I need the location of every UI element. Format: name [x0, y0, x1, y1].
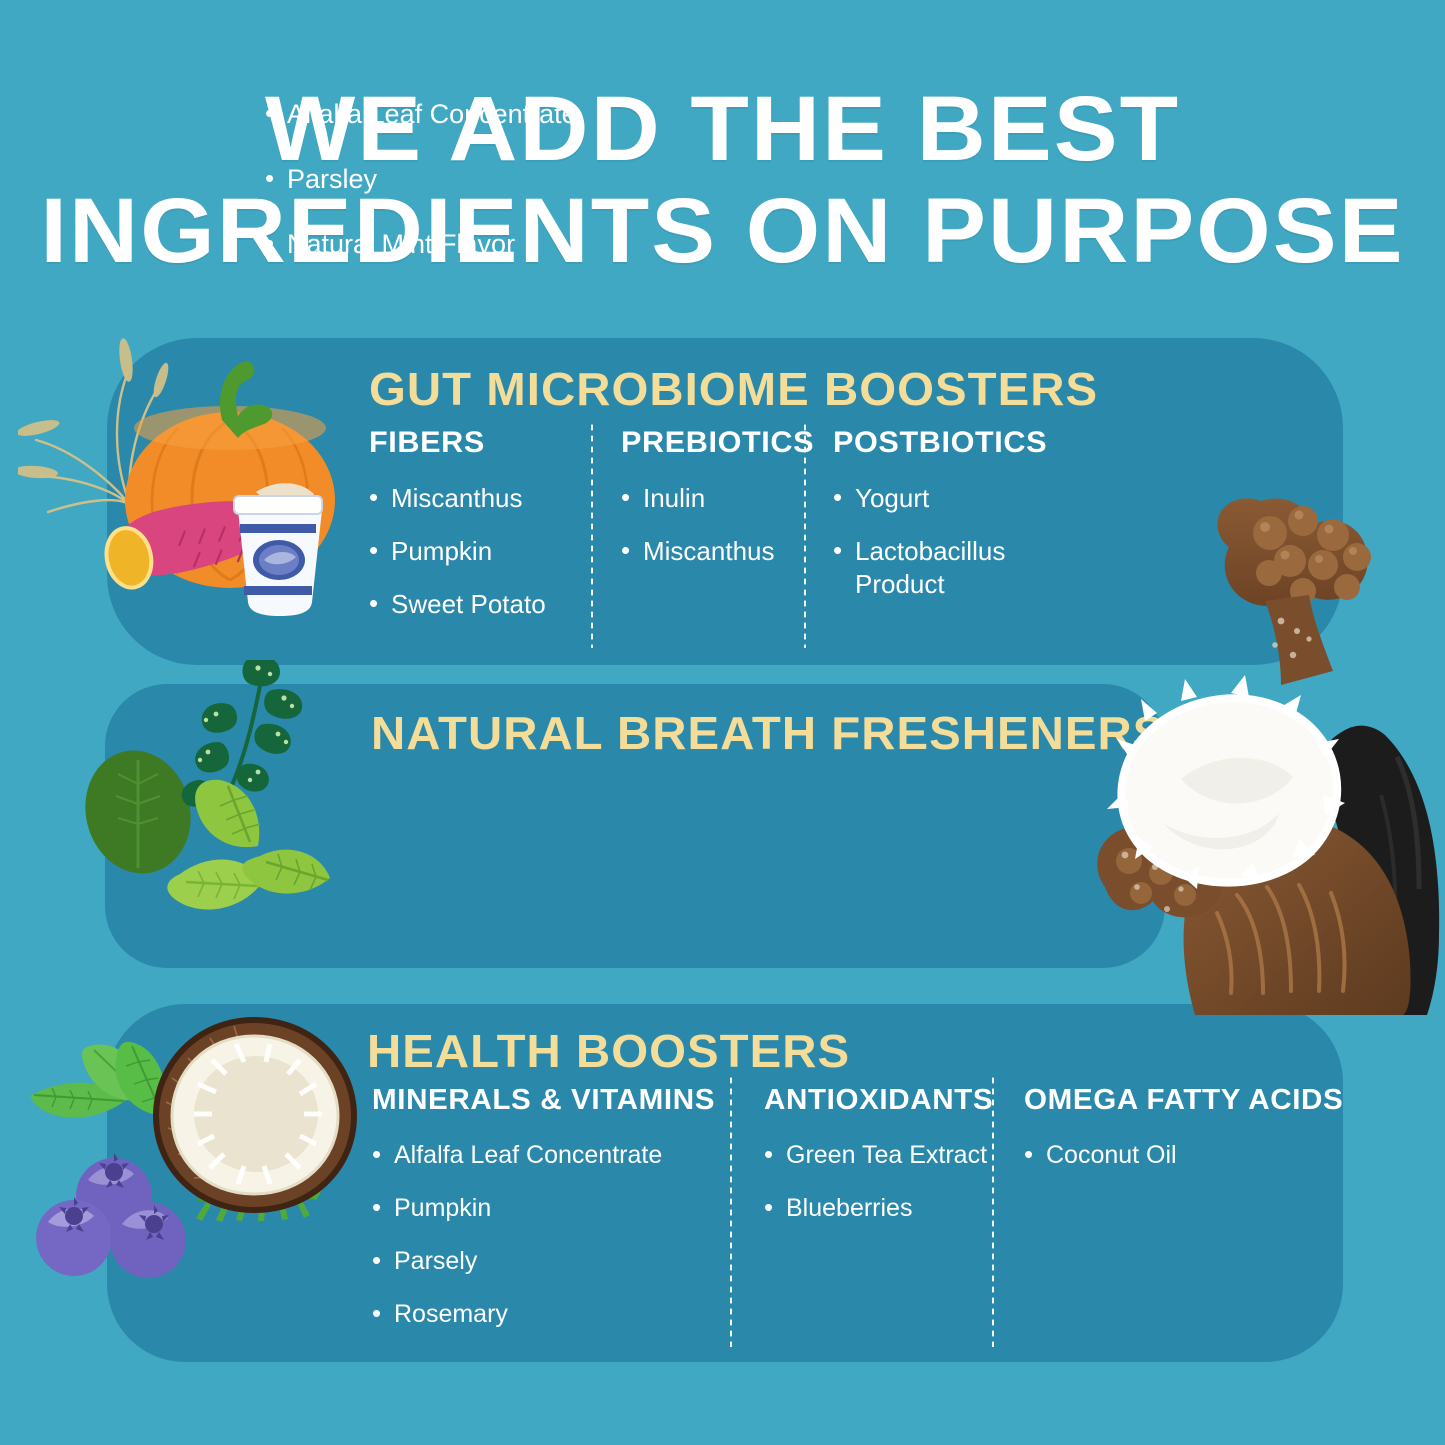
- list-item: Blueberries: [764, 1192, 994, 1224]
- ingredient-list: Yogurt Lactobacillus Product: [833, 482, 1053, 601]
- column-minerals-vitamins: MINERALS & VITAMINS Alfalfa Leaf Concent…: [372, 1084, 732, 1351]
- ingredient-list-breath-fresheners: Alfalfa Leaf Concentrate Parsley Natural…: [265, 98, 905, 293]
- column-prebiotics: PREBIOTICS Inulin Miscanthus: [591, 426, 803, 641]
- column-antioxidants: ANTIOXIDANTS Green Tea Extract Blueberri…: [732, 1084, 994, 1351]
- column-title: OMEGA FATTY ACIDS: [1024, 1084, 1320, 1117]
- ingredient-list: Alfalfa Leaf Concentrate Pumpkin Parsely…: [372, 1139, 732, 1330]
- list-item: Alfalfa Leaf Concentrate: [372, 1139, 732, 1171]
- column-divider: [590, 422, 594, 648]
- column-title: POSTBIOTICS: [833, 426, 1057, 460]
- column-title: MINERALS & VITAMINS: [372, 1084, 739, 1117]
- list-item: Miscanthus: [369, 482, 591, 515]
- list-item: Yogurt: [833, 482, 1053, 515]
- column-title: PREBIOTICS: [621, 426, 807, 460]
- list-item: Sweet Potato: [369, 588, 591, 621]
- list-item: Parsley: [265, 163, 905, 196]
- section-heading: GUT MICROBIOME BOOSTERS: [369, 362, 1098, 416]
- list-item: Coconut Oil: [1024, 1139, 1314, 1171]
- list-item: Inulin: [621, 482, 803, 515]
- column-divider: [803, 422, 807, 648]
- column-omega-fatty-acids: OMEGA FATTY ACIDS Coconut Oil: [994, 1084, 1314, 1351]
- list-item: Pumpkin: [372, 1192, 732, 1224]
- section-columns: MINERALS & VITAMINS Alfalfa Leaf Concent…: [372, 1084, 1317, 1351]
- section-heading: NATURAL BREATH FRESHENERS: [371, 706, 1165, 760]
- list-item: Alfalfa Leaf Concentrate: [265, 98, 905, 131]
- list-item: Green Tea Extract: [764, 1139, 994, 1171]
- list-item: Rosemary: [372, 1298, 732, 1330]
- column-fibers: FIBERS Miscanthus Pumpkin Sweet Potato: [369, 426, 591, 641]
- ingredient-list: Inulin Miscanthus: [621, 482, 803, 568]
- column-postbiotics: POSTBIOTICS Yogurt Lactobacillus Product: [803, 426, 1053, 641]
- section-columns: FIBERS Miscanthus Pumpkin Sweet Potato P…: [369, 426, 1069, 641]
- ingredient-list: Green Tea Extract Blueberries: [764, 1139, 994, 1224]
- list-item: Natural Mint Flavor: [265, 228, 905, 261]
- ingredient-list: Miscanthus Pumpkin Sweet Potato: [369, 482, 591, 621]
- column-title: FIBERS: [369, 426, 595, 460]
- list-item: Pumpkin: [369, 535, 591, 568]
- list-item: Lactobacillus Product: [833, 535, 1053, 601]
- section-card-health-boosters: HEALTH BOOSTERS MINERALS & VITAMINS Alfa…: [107, 1004, 1343, 1362]
- section-card-gut-microbiome-boosters: GUT MICROBIOME BOOSTERS FIBERS Miscanthu…: [107, 338, 1343, 665]
- column-divider: [991, 1075, 995, 1347]
- column-divider: [729, 1075, 733, 1347]
- section-heading: HEALTH BOOSTERS: [367, 1024, 850, 1078]
- column-title: ANTIOXIDANTS: [764, 1084, 999, 1117]
- section-card-natural-breath-fresheners: NATURAL BREATH FRESHENERS: [105, 684, 1165, 968]
- list-item: Miscanthus: [621, 535, 803, 568]
- list-item: Parsely: [372, 1245, 732, 1277]
- ingredient-list: Coconut Oil: [1024, 1139, 1314, 1171]
